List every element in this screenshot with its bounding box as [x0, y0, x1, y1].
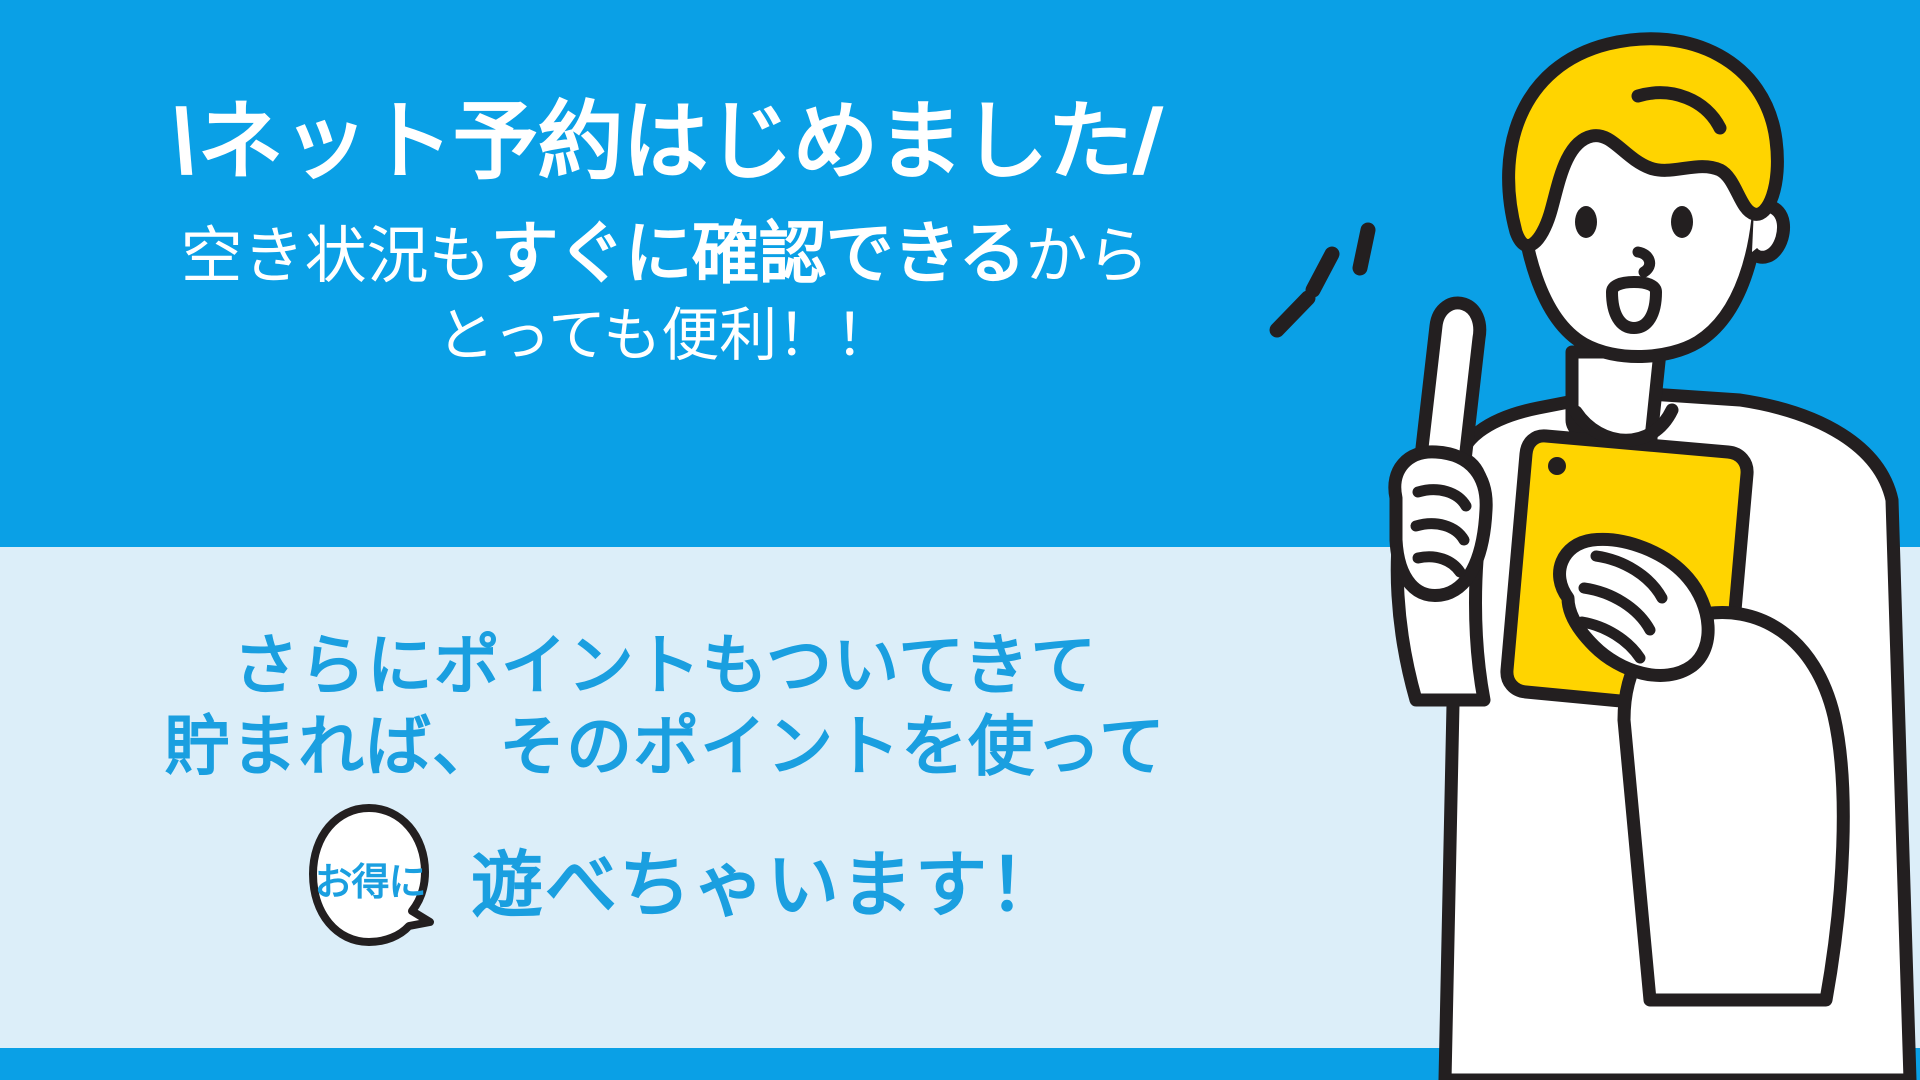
lower-line-1: さらにポイントもついてきて — [233, 625, 1097, 706]
final-text: 遊べちゃいます！ — [471, 826, 1063, 931]
bubble-label: お得に — [297, 802, 449, 954]
headline: \ ネット予約はじめました / — [169, 96, 1161, 188]
hero-text-block: \ ネット予約はじめました / 空き状況もすぐに確認できるから とっても便利！！ — [0, 0, 1330, 547]
footer-accent-bar — [0, 1048, 1920, 1080]
hero-subline-2: とっても便利！！ — [437, 304, 893, 368]
subline-emphasis: すぐに確認できる — [491, 216, 1026, 292]
subline-plain-suffix: から — [1025, 222, 1149, 291]
final-row: お得に 遊べちゃいます！ — [267, 802, 1063, 954]
slash-right-decoration: / — [1128, 96, 1166, 188]
otoku-speech-bubble: お得に — [297, 802, 449, 954]
headline-text: ネット予約はじめました — [198, 99, 1133, 185]
lower-text-block: さらにポイントもついてきて 貯まれば、そのポイントを使って お得に 遊べちゃいま… — [0, 547, 1330, 1007]
subline-plain-prefix: 空き状況も — [181, 222, 491, 291]
promo-banner: \ ネット予約はじめました / 空き状況もすぐに確認できるから とっても便利！！… — [0, 0, 1920, 1080]
lower-line-2: 貯まれば、そのポイントを使って — [164, 706, 1166, 787]
hero-subline: 空き状況もすぐに確認できるから — [181, 214, 1150, 294]
